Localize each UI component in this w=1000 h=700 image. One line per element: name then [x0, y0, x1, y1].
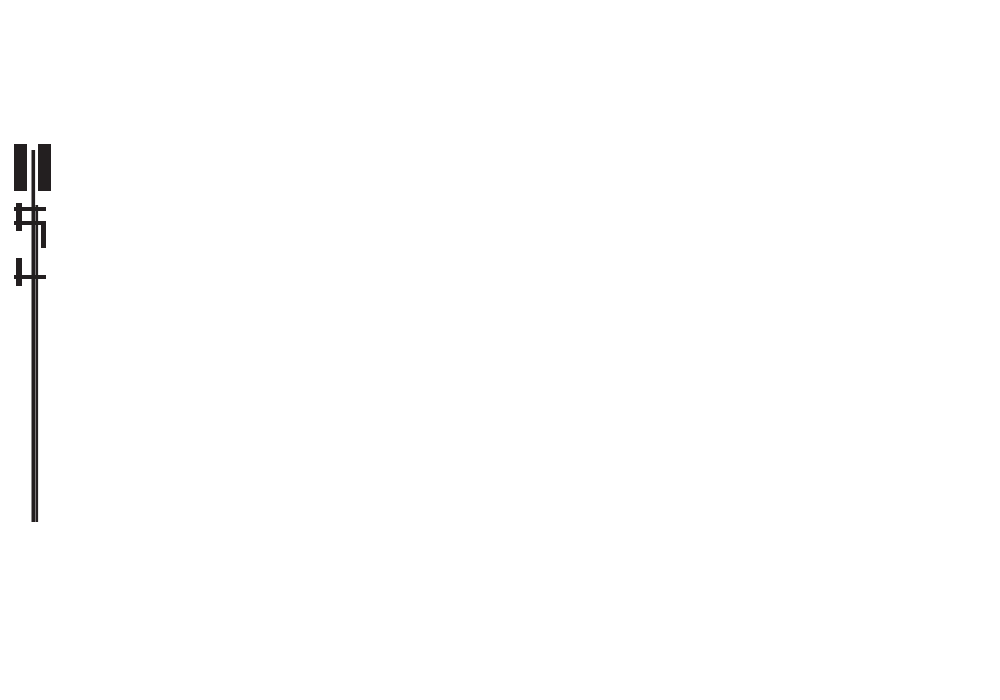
band-labels: [0, 540, 1000, 700]
cell-tower-icon: [14, 144, 51, 522]
infographic-root: [0, 0, 1000, 700]
band-column-high: [0, 540, 285, 560]
band-column-low: [680, 540, 1000, 560]
spectrum-illustration: [0, 0, 1000, 535]
band-column-mid: [330, 540, 650, 560]
